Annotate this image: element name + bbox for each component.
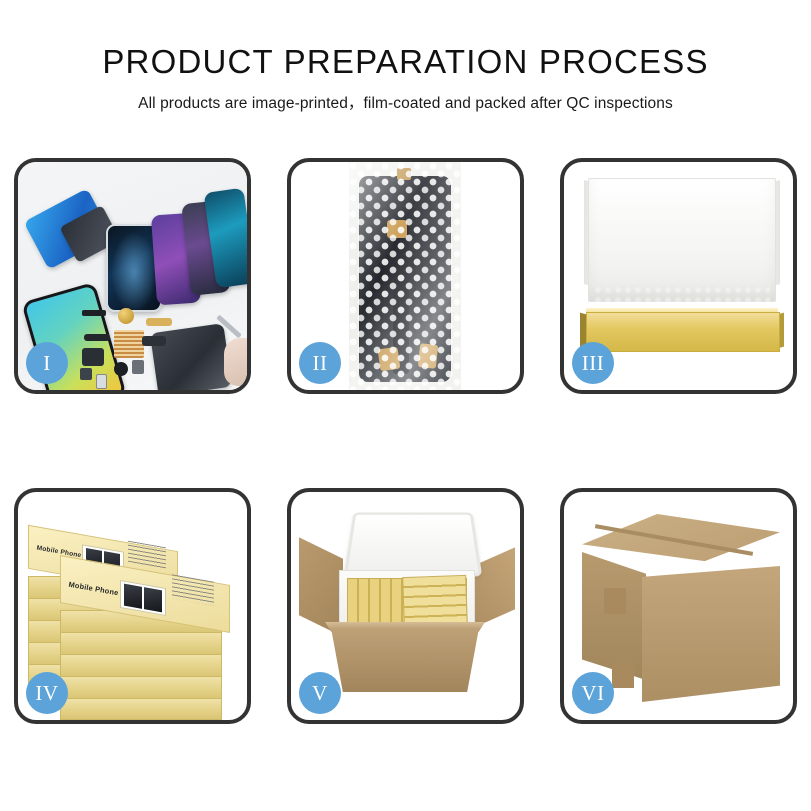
- page-subtitle: All products are image-printed，film-coat…: [0, 91, 811, 113]
- flex-cable-part-icon: [84, 334, 110, 341]
- step-panel-vi: VI: [560, 488, 797, 724]
- small-part-icon: [80, 368, 92, 380]
- step-badge-i: I: [26, 342, 68, 384]
- step-panel-i: I: [14, 158, 251, 394]
- camera-module-part-icon: [114, 362, 128, 376]
- step-panel-v: V: [287, 488, 524, 724]
- sim-tray-part-icon: [96, 374, 107, 389]
- page-title: PRODUCT PREPARATION PROCESS: [0, 44, 811, 80]
- flex-cable-part-icon: [82, 348, 104, 366]
- gold-box-side: [60, 698, 222, 720]
- foam-box-lid-icon: [344, 512, 483, 576]
- chip-part-icon: [132, 360, 144, 374]
- product-preparation-process-infographic: PRODUCT PREPARATION PROCESS All products…: [0, 0, 811, 811]
- gold-vibrator-part-icon: [118, 308, 134, 324]
- carton-tape-patch: [612, 662, 634, 688]
- carton-front-face: [642, 566, 780, 702]
- step-panel-iv: Mobile Phone Spare Parts Mobile Phone Sp…: [14, 488, 251, 724]
- gold-box-side: [60, 654, 222, 678]
- gold-box-side: [60, 676, 222, 700]
- step-badge-iv: IV: [26, 672, 68, 714]
- sealed-carton-icon: [582, 514, 780, 702]
- carton-front-panel: [331, 628, 479, 692]
- step-badge-ii: II: [299, 342, 341, 384]
- flex-cable-part-icon: [142, 336, 166, 346]
- carton-tape-patch: [604, 588, 626, 614]
- bubble-wrap-package: [349, 162, 461, 390]
- gold-boxes-inside-right: [402, 575, 468, 627]
- plastic-sheen: [349, 162, 461, 390]
- header: PRODUCT PREPARATION PROCESS All products…: [0, 0, 811, 113]
- gold-box-side: [60, 632, 222, 656]
- gold-box-tray-icon: [586, 312, 780, 352]
- gold-flex-part-icon: [146, 318, 172, 326]
- step-panel-iii: III: [560, 158, 797, 394]
- step-badge-vi: VI: [572, 672, 614, 714]
- white-box-lid-icon: [588, 178, 776, 302]
- process-steps-grid: I II: [14, 158, 797, 724]
- phone-back-housing-icon: [150, 323, 232, 390]
- step-badge-v: V: [299, 672, 341, 714]
- connector-grid-part-icon: [114, 330, 144, 358]
- step-badge-iii: III: [572, 342, 614, 384]
- hand-icon: [224, 338, 247, 386]
- carton-flap-left: [299, 537, 343, 636]
- step-panel-ii: II: [287, 158, 524, 394]
- carton-left-face: [582, 552, 646, 680]
- earpiece-speaker-part-icon: [82, 310, 106, 316]
